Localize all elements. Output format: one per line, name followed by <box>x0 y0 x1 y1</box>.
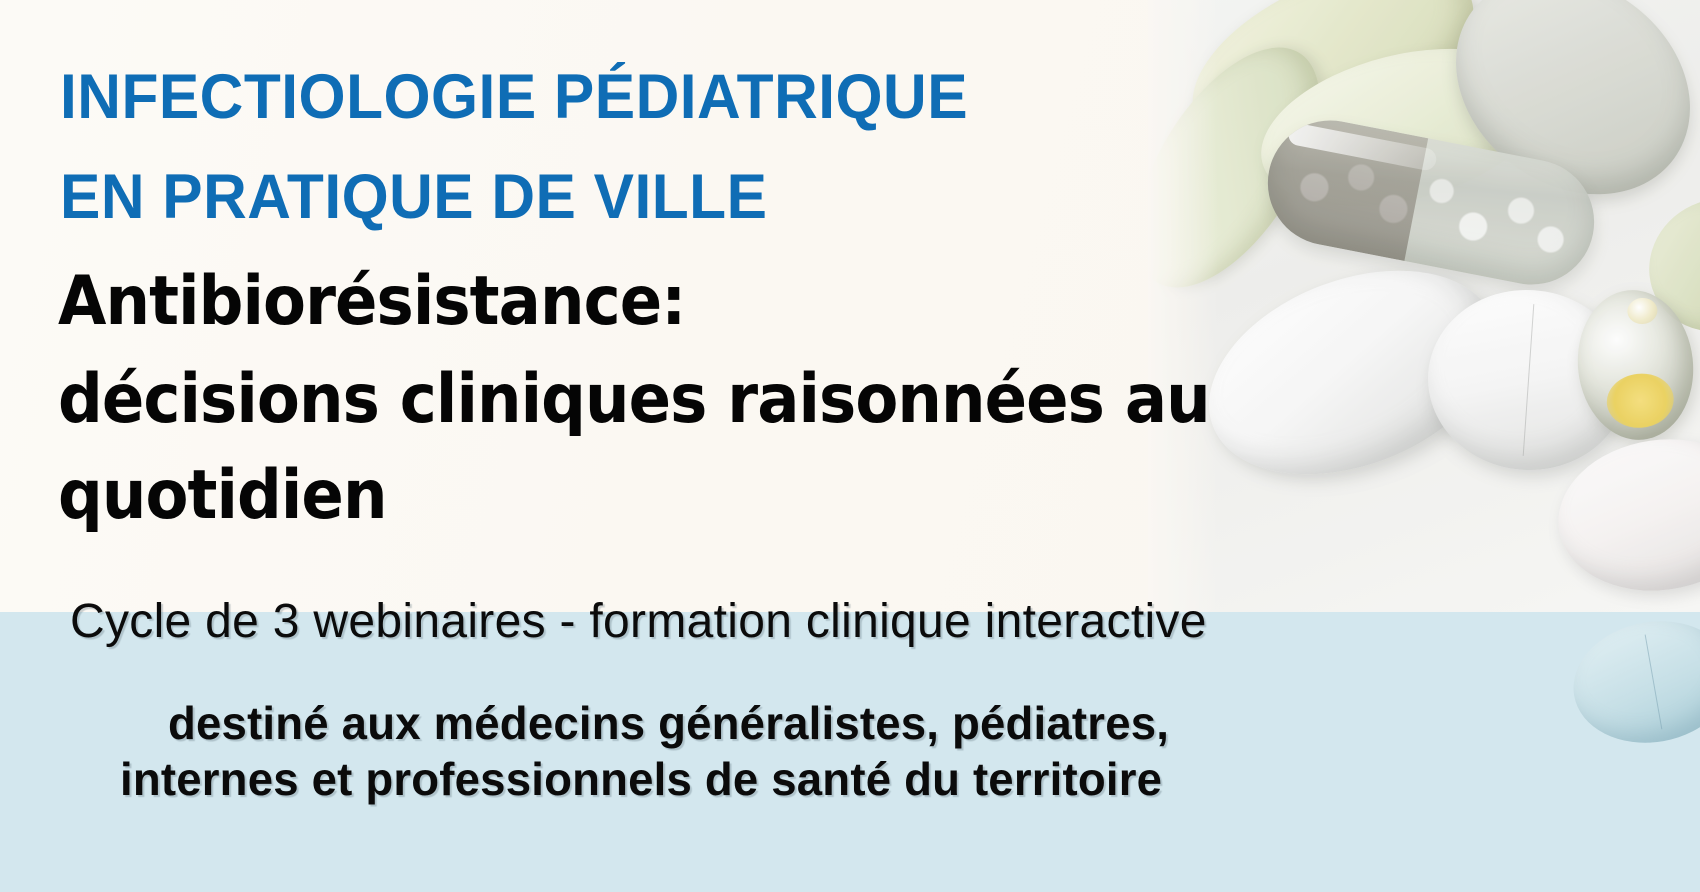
poster-title-line-1: INFECTIOLOGIE PÉDIATRIQUE <box>60 66 968 129</box>
poster-heading-line-2: décisions cliniques raisonnées au <box>58 366 1210 434</box>
webinar-promo-poster: INFECTIOLOGIE PÉDIATRIQUE EN PRATIQUE DE… <box>0 0 1700 892</box>
poster-text-layer: INFECTIOLOGIE PÉDIATRIQUE EN PRATIQUE DE… <box>0 0 1700 892</box>
poster-heading-line-1: Antibiorésistance: <box>58 268 685 336</box>
poster-audience-line-1: destiné aux médecins généralistes, pédia… <box>168 700 1169 746</box>
poster-heading-line-3: quotidien <box>58 462 387 530</box>
poster-format-line: Cycle de 3 webinaires - formation cliniq… <box>70 598 1207 646</box>
poster-audience-line-2: internes et professionnels de santé du t… <box>120 756 1162 802</box>
poster-title-line-2: EN PRATIQUE DE VILLE <box>60 166 767 229</box>
